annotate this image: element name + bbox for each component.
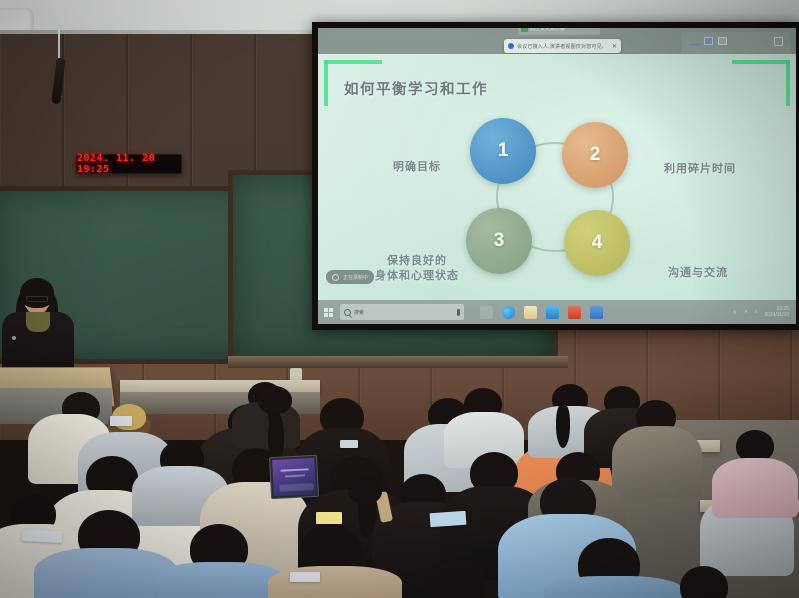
taskbar-search-input[interactable]: 搜索 xyxy=(340,304,464,320)
four-circle-diagram: 1 2 3 4 xyxy=(466,116,644,276)
slide-accent-corner-top-left-h xyxy=(324,60,382,64)
close-icon[interactable]: ✕ xyxy=(612,43,617,50)
start-icon xyxy=(324,308,333,317)
student-laptop[interactable] xyxy=(269,455,319,499)
bubble-4-number: 4 xyxy=(592,232,603,254)
led-clock-text: 2024. 11. 20 19:25 xyxy=(77,153,181,175)
glasses-icon xyxy=(26,296,48,302)
windows-taskbar[interactable]: 搜索 ∧ ◑ ♪ 19:25 2024/11/20 xyxy=(318,300,796,324)
student-head xyxy=(348,476,382,504)
microphone-icon[interactable] xyxy=(457,309,460,316)
meeting-app-icon[interactable] xyxy=(546,306,559,319)
presentation-app-tab[interactable]: 同上交大演示稿 xyxy=(518,28,600,35)
taskbar-clock[interactable]: 19:25 2024/11/20 xyxy=(764,306,789,319)
slide-title: 如何平衡学习和工作 xyxy=(344,78,488,99)
diagram-label-1: 明确目标 xyxy=(374,160,460,175)
presenter xyxy=(2,278,78,374)
laptop-screen-line-2 xyxy=(285,474,305,477)
bubble-2-number: 2 xyxy=(590,144,601,166)
desk-paper-2 xyxy=(22,529,63,543)
student-torso xyxy=(612,426,702,498)
powerpoint-icon xyxy=(521,28,528,32)
led-wall-clock: 2024. 11. 20 19:25 xyxy=(76,154,182,174)
laptop-screen-footer xyxy=(279,483,313,492)
start-button[interactable] xyxy=(318,300,338,324)
desk-paper-5 xyxy=(340,440,358,448)
laptop-screen-line-1 xyxy=(281,468,309,471)
maximize-icon[interactable] xyxy=(718,37,727,45)
bubble-3-number: 3 xyxy=(494,230,505,252)
desk-paper-4 xyxy=(110,416,132,426)
student-torso xyxy=(268,566,402,598)
student-ponytail xyxy=(556,404,570,448)
minimize-icon[interactable] xyxy=(690,44,699,45)
task-view-icon[interactable] xyxy=(480,306,493,319)
desk-paper-1 xyxy=(430,511,467,527)
edge-icon[interactable] xyxy=(502,306,515,319)
presenter-hair-top xyxy=(20,278,54,308)
slide-accent-corner-top-right-h xyxy=(732,60,790,64)
taskbar-tray: ∧ ◑ ♪ 19:25 2024/11/20 xyxy=(732,306,796,319)
meeting-notification-text: 会议已接入人,演讲者视图仅对您可见。 xyxy=(517,43,607,50)
student-torso xyxy=(712,458,798,518)
taskbar-app-icons xyxy=(480,306,603,319)
bubble-4[interactable]: 4 xyxy=(564,210,630,276)
chat-app-icon[interactable] xyxy=(590,306,603,319)
ceiling-vent xyxy=(0,8,34,34)
recording-indicator-label: 正在录制中 xyxy=(343,274,368,281)
fullscreen-icon[interactable] xyxy=(774,37,783,46)
slide-accent-corner-top-left-v xyxy=(324,60,328,106)
slide-accent-corner-top-right-v xyxy=(786,60,790,106)
taskbar-search-placeholder: 搜索 xyxy=(354,309,364,316)
bubble-2[interactable]: 2 xyxy=(562,122,628,188)
meeting-notification-toast[interactable]: 会议已接入人,演讲者视图仅对您可见。 ✕ xyxy=(504,39,621,53)
info-dot-icon xyxy=(508,43,514,49)
student-torso xyxy=(544,576,684,598)
slide-canvas[interactable]: 如何平衡学习和工作 1 2 3 4 明确目标 利用碎片时间 保持良好的 身体和心… xyxy=(318,54,796,300)
laptop-screen xyxy=(272,458,316,496)
diagram-label-4: 沟通与交流 xyxy=(648,266,748,281)
chevron-up-icon[interactable]: ∧ xyxy=(732,309,736,316)
desk-paper-3 xyxy=(290,572,320,582)
presentation-app-tab-label: 同上交大演示稿 xyxy=(530,28,565,32)
file-explorer-icon[interactable] xyxy=(524,306,537,319)
diagram-label-2: 利用碎片时间 xyxy=(648,162,752,177)
chalk-rail xyxy=(228,356,568,368)
restore-icon[interactable] xyxy=(704,37,713,45)
volume-icon[interactable]: ♪ xyxy=(754,309,757,315)
window-controls-row xyxy=(690,37,727,45)
diagram-label-3: 保持良好的 身体和心理状态 xyxy=(364,254,470,284)
bubble-3[interactable]: 3 xyxy=(466,208,532,274)
student-torso xyxy=(154,562,286,598)
sticky-note xyxy=(316,512,342,524)
record-icon xyxy=(332,274,339,281)
powerpoint-taskbar-icon[interactable] xyxy=(568,306,581,319)
classroom-scene: 2024. 11. 20 19:25 同上交大演示稿 会议已接入人,演讲者视图仅… xyxy=(0,0,799,598)
network-icon[interactable]: ◑ xyxy=(744,309,748,315)
presenter-badge xyxy=(12,336,16,340)
recording-indicator[interactable]: 正在录制中 xyxy=(326,270,374,284)
search-icon xyxy=(344,309,351,316)
presenter-scarf xyxy=(26,312,50,332)
projection-screen[interactable]: 同上交大演示稿 会议已接入人,演讲者视图仅对您可见。 ✕ ‹ 演示视图 Savi… xyxy=(318,28,796,324)
hanging-cable xyxy=(58,0,60,62)
bubble-1[interactable]: 1 xyxy=(470,118,536,184)
bubble-1-number: 1 xyxy=(498,140,509,162)
student-head xyxy=(258,386,292,414)
taskbar-clock-date: 2024/11/20 xyxy=(764,312,789,318)
